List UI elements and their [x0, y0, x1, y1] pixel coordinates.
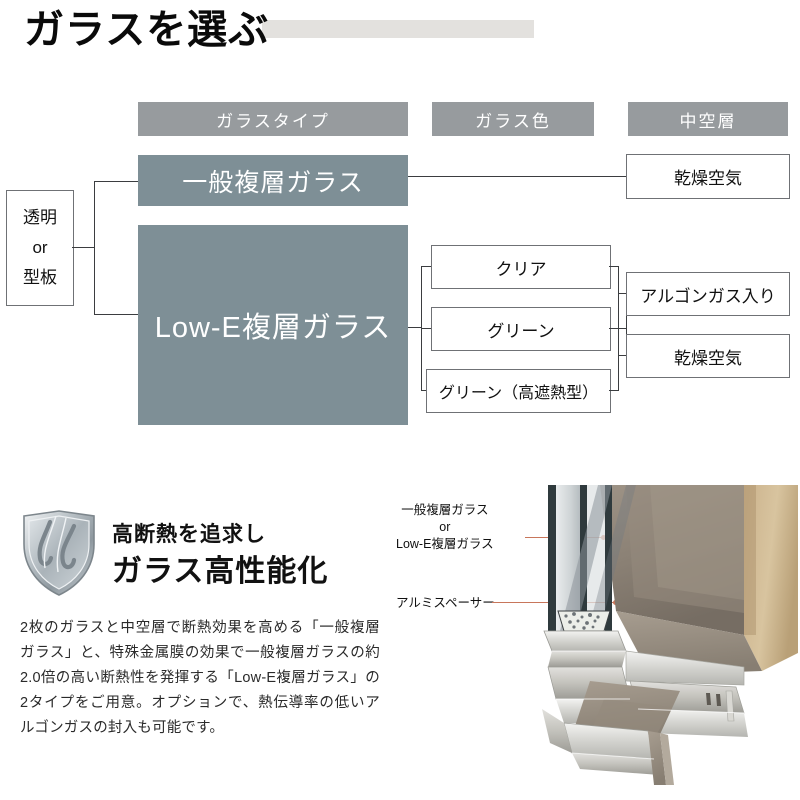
connector-green-hs-out [609, 390, 619, 391]
glass-surface-selector: 透明 or 型板 [6, 190, 74, 306]
connector-lowe-stem [408, 327, 422, 328]
connector-to-color-clear [421, 266, 431, 267]
column-header-glass-color-label: ガラス色 [475, 107, 551, 132]
connector-to-lowe-glass [94, 314, 138, 315]
glass-type-general: 一般複層ガラス [138, 155, 408, 206]
connector-to-color-green [421, 328, 431, 329]
selector-option-transparent: 透明 [23, 203, 57, 233]
glass-color-green-high-shielding-label: グリーン（高遮熱型） [439, 379, 598, 403]
photo-annotation-glass-line3: Low-E複層ガラス [396, 536, 494, 553]
column-header-air-layer: 中空層 [628, 102, 788, 136]
glass-color-clear: クリア [431, 245, 611, 289]
glass-color-green-label: グリーン [487, 317, 554, 342]
glass-color-green: グリーン [431, 307, 611, 351]
column-header-air-layer-label: 中空層 [680, 107, 737, 132]
photo-annotation-glass-line1: 一般複層ガラス [396, 502, 494, 519]
glass-type-general-label: 一般複層ガラス [182, 163, 364, 199]
shield-emblem-icon [20, 510, 98, 596]
glass-type-lowe-label: Low-E複層ガラス [155, 304, 392, 346]
column-header-glass-type: ガラスタイプ [138, 102, 408, 136]
connector-selector-vertical [94, 181, 95, 314]
window-sill-cross-section-photo [530, 485, 798, 785]
feature-subheading: 高断熱を追求し [112, 518, 266, 548]
page-header: ガラスを選ぶ [0, 0, 800, 62]
glass-color-clear-label: クリア [496, 255, 547, 280]
feature-heading: ガラス高性能化 [112, 546, 328, 590]
glass-type-lowe: Low-E複層ガラス [138, 225, 408, 425]
air-layer-lowe-dryair-label: 乾燥空気 [674, 344, 742, 369]
selector-conjunction-or: or [32, 233, 47, 263]
photo-annotation-glass: 一般複層ガラス or Low-E複層ガラス [396, 502, 494, 553]
glass-selection-diagram: ガラスタイプ ガラス色 中空層 透明 or 型板 一般複層ガラス Low-E複層… [0, 62, 800, 472]
photo-annotation-spacer: アルミスペーサー [396, 595, 495, 612]
air-layer-lowe-dryair: 乾燥空気 [626, 334, 790, 378]
title-accent-bar [262, 20, 534, 38]
connector-to-argon [618, 293, 626, 294]
air-layer-general-dryair: 乾燥空気 [626, 154, 790, 199]
air-layer-argon-label: アルゴンガス入り [640, 282, 776, 307]
air-layer-argon: アルゴンガス入り [626, 272, 790, 316]
page-title: ガラスを選ぶ [24, 4, 269, 56]
column-header-glass-color: ガラス色 [432, 102, 594, 136]
connector-general-to-dryair [408, 176, 626, 177]
connector-merge-stem [618, 328, 626, 329]
photo-annotation-glass-line2: or [396, 519, 494, 536]
feature-body-text: 2枚のガラスと中空層で断熱効果を高める「一般複層ガラス」と、特殊金属膜の効果で一… [20, 616, 380, 741]
connector-selector-stem [72, 247, 94, 248]
air-layer-general-dryair-label: 乾燥空気 [674, 164, 742, 189]
connector-to-general-glass [94, 181, 138, 182]
feature-section: 高断熱を追求し ガラス高性能化 2枚のガラスと中空層で断熱効果を高める「一般複層… [0, 480, 800, 800]
connector-to-dryair-lowe [618, 355, 626, 356]
glass-color-green-high-shielding: グリーン（高遮熱型） [426, 369, 611, 413]
page-root: ガラスを選ぶ ガラスタイプ ガラス色 中空層 透明 or 型板 一般複層ガラス … [0, 0, 800, 800]
column-header-glass-type-label: ガラスタイプ [216, 107, 330, 132]
selector-option-figured: 型板 [23, 263, 57, 293]
